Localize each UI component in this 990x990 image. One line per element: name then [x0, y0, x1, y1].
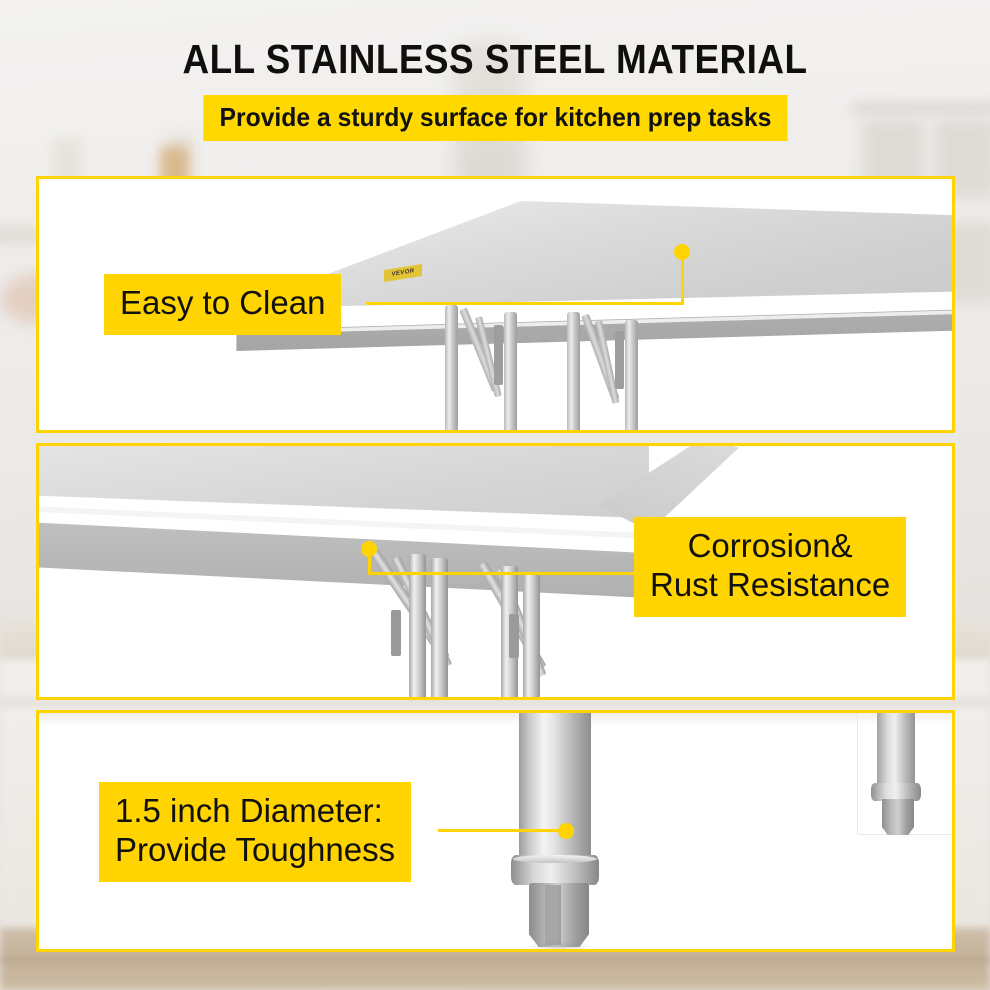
leg-bracket	[615, 331, 624, 389]
leg-shadow	[525, 941, 593, 952]
callout-label-leg-diameter: 1.5 inch Diameter: Provide Toughness	[99, 782, 411, 882]
adjustable-foot-facet	[545, 885, 561, 945]
callout-label-line: Rust Resistance	[650, 566, 890, 605]
photo-top-strip	[39, 713, 952, 725]
subtitle-container: Provide a sturdy surface for kitchen pre…	[0, 95, 990, 141]
background-cabinet-seam	[0, 700, 990, 705]
table-leg	[445, 305, 458, 433]
callout-label-line: Provide Toughness	[115, 831, 395, 870]
callout-line-rust-resistance	[368, 572, 640, 575]
callout-label-line: 1.5 inch Diameter:	[115, 792, 395, 831]
table-leg-secondary	[877, 710, 915, 785]
folding-latch	[391, 610, 401, 656]
folding-latch	[509, 614, 519, 658]
adjustable-foot-secondary	[882, 799, 914, 835]
callout-label-line: Easy to Clean	[120, 284, 325, 323]
callout-dot-leg-diameter	[558, 823, 574, 839]
callout-dot-easy-to-clean	[674, 244, 690, 260]
callout-line-easy-to-clean	[366, 302, 684, 305]
leg-collar-highlight	[513, 855, 597, 863]
page-subtitle: Provide a sturdy surface for kitchen pre…	[203, 95, 787, 141]
callout-label-rust-resistance: Corrosion& Rust Resistance	[634, 517, 906, 617]
table-leg	[625, 320, 638, 433]
callout-label-line: Corrosion&	[650, 527, 890, 566]
table-leg	[504, 312, 517, 433]
callout-dot-rust-resistance	[361, 541, 377, 557]
table-leg	[431, 558, 448, 700]
background-floor-seam	[0, 958, 990, 961]
table-leg	[567, 312, 580, 433]
leg-adjuster-collar-secondary	[871, 783, 921, 801]
callout-line-leg-diameter	[438, 829, 566, 832]
table-leg	[523, 572, 540, 700]
table-leg-closeup	[519, 710, 591, 859]
table-leg	[409, 554, 426, 700]
callout-label-easy-to-clean: Easy to Clean	[104, 274, 341, 335]
leg-bracket	[494, 325, 503, 385]
banner-heading: ALL STAINLESS STEEL MATERIAL Provide a s…	[0, 0, 990, 141]
page-title: ALL STAINLESS STEEL MATERIAL	[50, 36, 941, 83]
